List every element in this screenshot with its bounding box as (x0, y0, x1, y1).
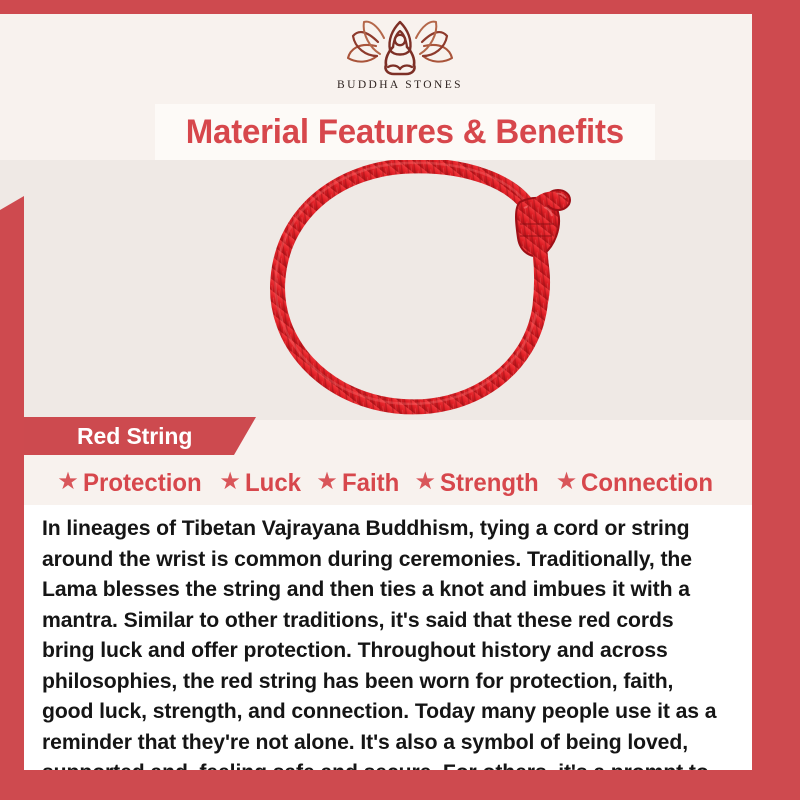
frame-left-accent-bar (0, 196, 24, 780)
title-banner: Material Features & Benefits (155, 104, 655, 160)
red-string-bracelet-image (214, 160, 606, 420)
star-icon: ★ (316, 470, 338, 494)
description-paragraph: In lineages of Tibetan Vajrayana Buddhis… (42, 513, 724, 800)
feature-benefits-row: ★ Protection ★ Luck ★ Faith ★ Strength ★… (24, 462, 752, 504)
feature-label-connection: Connection (581, 469, 713, 498)
feature-item-connection: ★ Connection (551, 469, 724, 498)
star-icon: ★ (219, 470, 241, 494)
lotus-meditation-figure-icon (344, 16, 456, 78)
star-icon: ★ (57, 470, 79, 494)
material-label-text: Red String (77, 423, 192, 450)
material-label-ribbon: Red String (24, 417, 256, 455)
brand-header: BUDDHA STONES (0, 14, 800, 104)
product-photo (0, 160, 800, 420)
frame-bottom-border (0, 770, 800, 800)
infographic-card: BUDDHA STONES Material Features & Benefi… (0, 0, 800, 800)
feature-label-protection: Protection (83, 469, 202, 498)
star-icon: ★ (556, 470, 578, 494)
description-panel: In lineages of Tibetan Vajrayana Buddhis… (24, 505, 752, 770)
page-title: Material Features & Benefits (186, 113, 624, 152)
feature-label-luck: Luck (245, 469, 301, 498)
frame-right-border (752, 0, 800, 800)
feature-item-faith: ★ Faith (311, 469, 406, 498)
feature-item-luck: ★ Luck (214, 469, 308, 498)
star-icon: ★ (414, 470, 436, 494)
brand-wordmark: BUDDHA STONES (337, 79, 463, 91)
frame-top-border (0, 0, 800, 14)
feature-label-strength: Strength (440, 469, 539, 498)
feature-item-strength: ★ Strength (409, 469, 547, 498)
feature-item-protection: ★ Protection (52, 469, 211, 498)
feature-label-faith: Faith (342, 469, 399, 498)
